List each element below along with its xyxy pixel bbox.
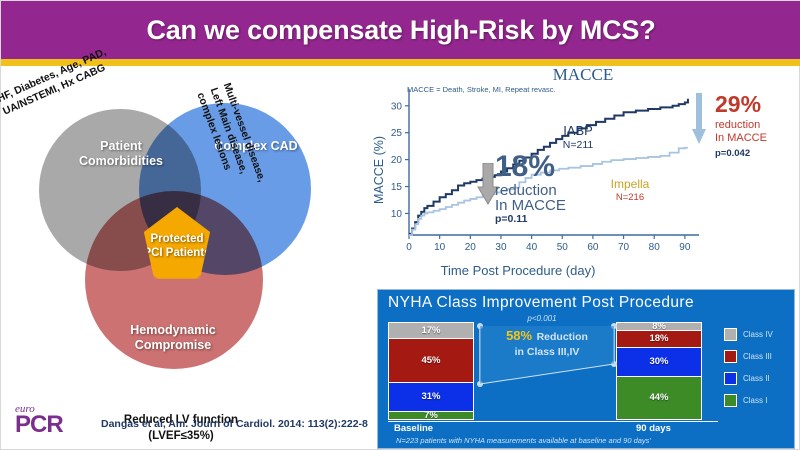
macce-xtick-50: 50	[557, 242, 569, 253]
macce-xtick-20: 20	[465, 242, 477, 253]
macce-reduction-18-annotation: 18% reduction In MACCE p=0.11	[495, 151, 625, 225]
macce-chart: MACCE MACCE = Death, Stroke, MI, Repeat …	[373, 67, 800, 282]
macce-ytick-30: 30	[391, 101, 403, 112]
macce-xtick-30: 30	[495, 242, 507, 253]
nyha-segment-class-ii: 31%	[389, 383, 473, 413]
nyha-legend-item: Class I	[724, 394, 794, 407]
nyha-segment-class-i: 7%	[389, 412, 473, 419]
nyha-segment-class-iii: 18%	[617, 331, 701, 348]
europcr-logo: euro PCR	[15, 404, 77, 437]
nyha-footnote: N=223 patients with NYHA measurements av…	[396, 436, 651, 445]
venn-label-comorbidities: Patient Comorbidities	[63, 139, 179, 170]
macce-reduction-18-pvalue: p=0.11	[495, 214, 625, 225]
nyha-reduction-line2: in Class III,IV	[488, 346, 606, 359]
logo-pcr-text: PCR	[15, 413, 77, 437]
nyha-segment-class-iii: 45%	[389, 339, 473, 382]
nyha-legend-swatch	[724, 372, 737, 385]
macce-iabp-name: IABP	[563, 123, 593, 138]
nyha-legend-swatch	[724, 350, 737, 363]
macce-reduction-29-line1: reduction	[715, 119, 800, 132]
nyha-segment-class-iv: 17%	[389, 323, 473, 339]
nyha-legend-swatch	[724, 394, 737, 407]
nyha-segment-class-i: 44%	[617, 377, 701, 419]
nyha-chart-panel: NYHA Class Improvement Post Procedure p<…	[377, 289, 795, 449]
macce-xtick-60: 60	[587, 242, 599, 253]
nyha-segment-class-ii: 30%	[617, 348, 701, 377]
nyha-legend: Class IVClass IIIClass IIClass I	[724, 328, 794, 416]
nyha-bar-baseline: 17%45%31%7%	[388, 322, 474, 420]
macce-reduction-29-annotation: 29% reduction In MACCE p=0.042	[715, 91, 800, 159]
macce-series-label-iabp: IABP N=211	[543, 123, 613, 152]
nyha-reduction-line1: 58% Reduction	[488, 326, 606, 346]
macce-xtick-40: 40	[526, 242, 538, 253]
venn-footnote-l2: (LVEF≤35%)	[41, 429, 321, 445]
macce-xtick-80: 80	[649, 242, 661, 253]
nyha-legend-label: Class II	[743, 374, 770, 383]
nyha-reduction-word: Reduction	[537, 331, 588, 343]
nyha-legend-item: Class IV	[724, 328, 794, 341]
nyha-bar-90days: 8%18%30%44%	[616, 322, 702, 420]
macce-ytick-15: 15	[391, 182, 403, 193]
nyha-legend-label: Class IV	[743, 330, 773, 339]
macce-reduction-29-pvalue: p=0.042	[715, 148, 800, 159]
header-accent-stripe	[1, 59, 800, 66]
macce-xtick-90: 90	[679, 242, 691, 253]
nyha-chart-title: NYHA Class Improvement Post Procedure	[388, 294, 694, 312]
nyha-legend-label: Class I	[743, 396, 767, 405]
nyha-legend-label: Class III	[743, 352, 772, 361]
nyha-category-baseline: Baseline	[394, 423, 433, 434]
nyha-category-90days: 90 days	[636, 423, 671, 434]
nyha-axis-line	[388, 421, 718, 422]
nyha-reduction-annotation: 58% Reduction in Class III,IV	[488, 326, 606, 359]
macce-ytick-25: 25	[391, 128, 403, 139]
page-title: Can we compensate High-Risk by MCS?	[1, 1, 800, 59]
macce-xtick-0: 0	[406, 242, 412, 253]
nyha-legend-swatch	[724, 328, 737, 341]
macce-ytick-10: 10	[391, 209, 403, 220]
venn-diagram: Patient Comorbidities Complex CAD Hemody…	[1, 71, 371, 381]
nyha-segment-class-iv: 8%	[617, 323, 701, 331]
citation-text: Dangas et al, Am. Journ of Cardiol. 2014…	[101, 418, 368, 430]
nyha-legend-item: Class III	[724, 350, 794, 363]
venn-label-hemodynamic: Hemodynamic Compromise	[111, 323, 235, 354]
slide-canvas: Can we compensate High-Risk by MCS? Pati…	[0, 0, 800, 450]
macce-xtick-10: 10	[434, 242, 446, 253]
nyha-legend-item: Class II	[724, 372, 794, 385]
macce-down-arrow-blue	[691, 93, 707, 145]
macce-reduction-18-line1: reduction	[495, 183, 625, 199]
macce-reduction-29-line2: In MACCE	[715, 132, 800, 145]
nyha-reduction-value: 58%	[506, 328, 532, 343]
macce-reduction-18-value: 18%	[495, 151, 625, 183]
macce-ytick-20: 20	[391, 155, 403, 166]
macce-xtick-70: 70	[618, 242, 630, 253]
macce-reduction-29-value: 29%	[715, 91, 800, 119]
macce-reduction-18-line2: In MACCE	[495, 198, 625, 214]
